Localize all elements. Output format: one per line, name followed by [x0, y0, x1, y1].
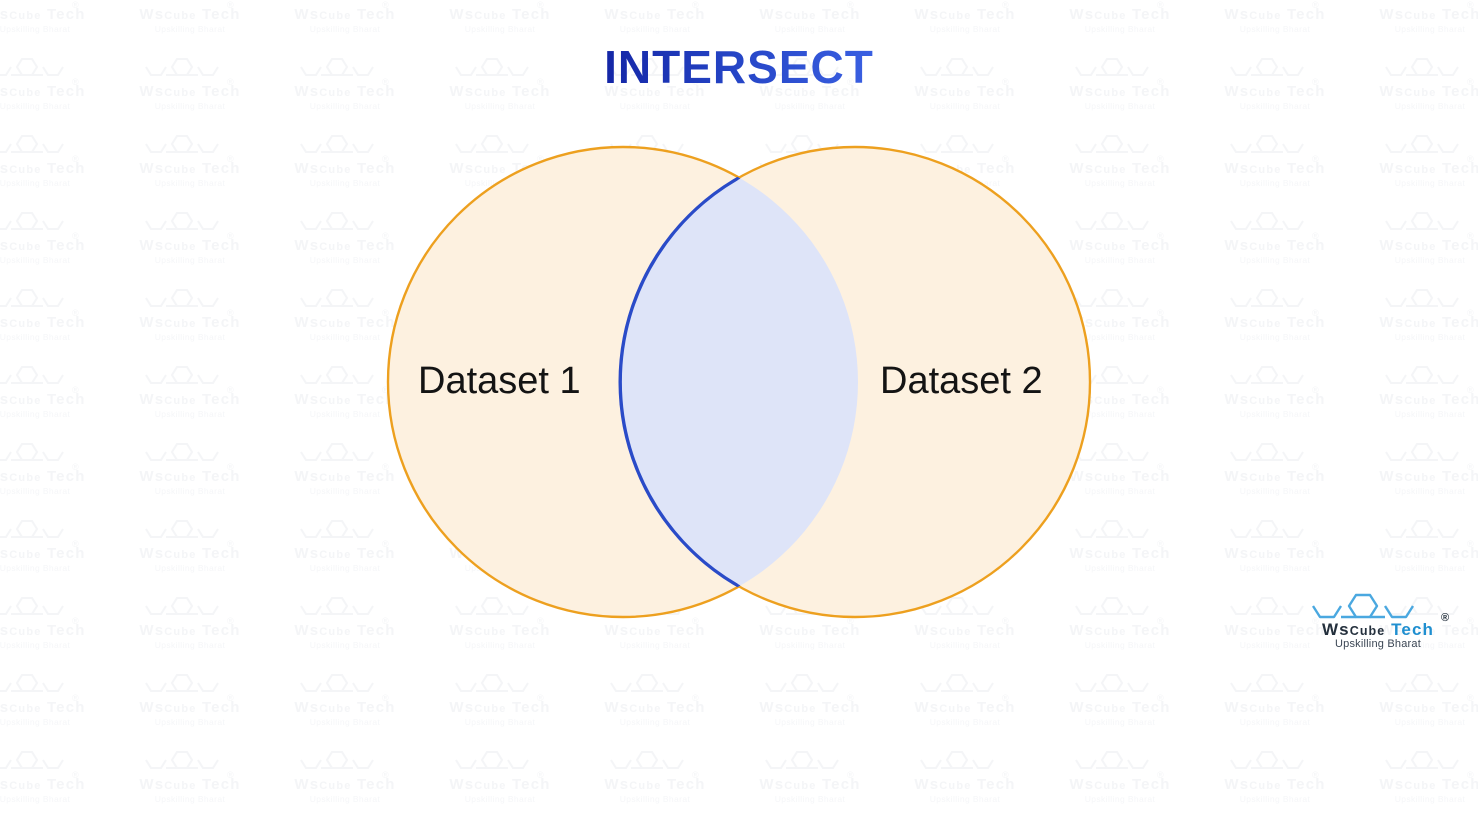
brand-word-ws: Ws [1322, 620, 1350, 639]
watermark-tile: WsCube Tech®Upskilling Bharat [890, 750, 1040, 820]
watermark-hexagon-icon [143, 750, 239, 779]
watermark-tagline: Upskilling Bharat [1355, 717, 1478, 727]
watermark-wordmark: WsCube Tech [890, 699, 1040, 716]
page-title: INTERSECT [0, 40, 1478, 94]
watermark-word-cube: Cube [9, 780, 41, 792]
watermark-word-ws: Ws [449, 699, 474, 716]
watermark-registered-mark-icon: ® [1312, 770, 1319, 780]
watermark-registered-mark-icon: ® [692, 693, 699, 703]
watermark-registered-mark-icon: ® [72, 770, 79, 780]
venn-label-dataset-2: Dataset 2 [880, 360, 1043, 403]
watermark-registered-mark-icon: ® [382, 770, 389, 780]
watermark-wordmark: WsCube Tech [425, 699, 575, 716]
watermark-word-cube: Cube [319, 780, 351, 792]
watermark-tagline: Upskilling Bharat [890, 717, 1040, 727]
watermark-word-tech: Tech [1442, 699, 1478, 716]
watermark-tile: WsCube Tech®Upskilling Bharat [425, 673, 575, 743]
watermark-word-tech: Tech [512, 699, 551, 716]
watermark-word-tech: Tech [1442, 776, 1478, 793]
watermark-word-ws: Ws [914, 776, 939, 793]
watermark-tile: WsCube Tech®Upskilling Bharat [1045, 673, 1195, 743]
watermark-tagline: Upskilling Bharat [735, 794, 885, 804]
watermark-wordmark: WsCube Tech [580, 776, 730, 793]
watermark-tile: WsCube Tech®Upskilling Bharat [0, 750, 110, 820]
watermark-word-tech: Tech [1287, 699, 1326, 716]
watermark-registered-mark-icon: ® [1312, 693, 1319, 703]
watermark-word-ws: Ws [604, 699, 629, 716]
watermark-tagline: Upskilling Bharat [890, 794, 1040, 804]
watermark-hexagon-icon [453, 750, 549, 779]
watermark-wordmark: WsCube Tech [0, 776, 110, 793]
watermark-word-cube: Cube [1249, 780, 1281, 792]
watermark-hexagon-icon [298, 673, 394, 702]
watermark-word-tech: Tech [977, 699, 1016, 716]
watermark-registered-mark-icon: ® [1467, 770, 1474, 780]
watermark-word-tech: Tech [47, 776, 86, 793]
watermark-tile: WsCube Tech®Upskilling Bharat [1200, 673, 1350, 743]
watermark-word-tech: Tech [977, 776, 1016, 793]
watermark-tagline: Upskilling Bharat [580, 717, 730, 727]
watermark-word-cube: Cube [1094, 703, 1126, 715]
watermark-word-cube: Cube [1249, 703, 1281, 715]
watermark-registered-mark-icon: ® [72, 693, 79, 703]
watermark-tagline: Upskilling Bharat [580, 794, 730, 804]
watermark-tile: WsCube Tech®Upskilling Bharat [270, 750, 420, 820]
brand-word-tech: Tech [1391, 620, 1434, 639]
watermark-tile: WsCube Tech®Upskilling Bharat [735, 673, 885, 743]
watermark-word-ws: Ws [759, 776, 784, 793]
watermark-hexagon-icon [763, 750, 859, 779]
watermark-word-ws: Ws [604, 776, 629, 793]
watermark-tagline: Upskilling Bharat [270, 794, 420, 804]
watermark-wordmark: WsCube Tech [1200, 699, 1350, 716]
watermark-tile: WsCube Tech®Upskilling Bharat [115, 750, 265, 820]
watermark-word-ws: Ws [1379, 776, 1404, 793]
watermark-tile: WsCube Tech®Upskilling Bharat [890, 673, 1040, 743]
watermark-word-cube: Cube [164, 780, 196, 792]
watermark-registered-mark-icon: ® [1467, 693, 1474, 703]
watermark-word-tech: Tech [1287, 776, 1326, 793]
watermark-word-tech: Tech [667, 776, 706, 793]
watermark-word-cube: Cube [939, 780, 971, 792]
watermark-word-cube: Cube [939, 703, 971, 715]
watermark-registered-mark-icon: ® [382, 693, 389, 703]
watermark-wordmark: WsCube Tech [1355, 776, 1478, 793]
brand-tagline: Upskilling Bharat [1298, 638, 1458, 650]
watermark-word-cube: Cube [784, 780, 816, 792]
watermark-tagline: Upskilling Bharat [1200, 794, 1350, 804]
watermark-tagline: Upskilling Bharat [1045, 794, 1195, 804]
venn-diagram-svg [0, 0, 1478, 677]
watermark-tile: WsCube Tech®Upskilling Bharat [425, 750, 575, 820]
watermark-word-tech: Tech [47, 699, 86, 716]
watermark-registered-mark-icon: ® [1157, 770, 1164, 780]
watermark-word-ws: Ws [1224, 699, 1249, 716]
watermark-wordmark: WsCube Tech [0, 699, 110, 716]
watermark-hexagon-icon [1073, 750, 1169, 779]
watermark-word-tech: Tech [357, 699, 396, 716]
watermark-word-ws: Ws [139, 776, 164, 793]
watermark-word-cube: Cube [474, 703, 506, 715]
watermark-wordmark: WsCube Tech [1045, 776, 1195, 793]
watermark-registered-mark-icon: ® [537, 693, 544, 703]
watermark-wordmark: WsCube Tech [890, 776, 1040, 793]
watermark-word-cube: Cube [629, 703, 661, 715]
watermark-tagline: Upskilling Bharat [270, 717, 420, 727]
watermark-tagline: Upskilling Bharat [1200, 717, 1350, 727]
brand-word-cube: Cube [1350, 624, 1386, 638]
watermark-registered-mark-icon: ® [227, 693, 234, 703]
watermark-word-cube: Cube [784, 703, 816, 715]
watermark-word-tech: Tech [1132, 699, 1171, 716]
watermark-registered-mark-icon: ® [847, 770, 854, 780]
watermark-wordmark: WsCube Tech [735, 776, 885, 793]
watermark-word-cube: Cube [319, 703, 351, 715]
watermark-wordmark: WsCube Tech [115, 776, 265, 793]
watermark-word-tech: Tech [512, 776, 551, 793]
watermark-word-cube: Cube [164, 703, 196, 715]
watermark-hexagon-icon [1383, 750, 1478, 779]
watermark-tagline: Upskilling Bharat [115, 794, 265, 804]
watermark-word-cube: Cube [1404, 703, 1436, 715]
brand-wordmark: WsCube Tech [1298, 620, 1458, 640]
watermark-word-ws: Ws [0, 699, 9, 716]
watermark-hexagon-icon [918, 750, 1014, 779]
watermark-word-ws: Ws [139, 699, 164, 716]
watermark-tile: WsCube Tech®Upskilling Bharat [580, 673, 730, 743]
watermark-hexagon-icon [918, 673, 1014, 702]
page-title-text: INTERSECT [604, 40, 874, 94]
watermark-word-tech: Tech [822, 699, 861, 716]
watermark-word-tech: Tech [202, 776, 241, 793]
watermark-word-ws: Ws [914, 699, 939, 716]
watermark-wordmark: WsCube Tech [580, 699, 730, 716]
watermark-wordmark: WsCube Tech [1200, 776, 1350, 793]
watermark-registered-mark-icon: ® [692, 770, 699, 780]
watermark-registered-mark-icon: ® [537, 770, 544, 780]
watermark-hexagon-icon [0, 673, 84, 702]
watermark-tile: WsCube Tech®Upskilling Bharat [115, 673, 265, 743]
watermark-tile: WsCube Tech®Upskilling Bharat [1355, 673, 1478, 743]
watermark-registered-mark-icon: ® [1157, 693, 1164, 703]
watermark-hexagon-icon [1073, 673, 1169, 702]
watermark-word-ws: Ws [1379, 699, 1404, 716]
watermark-word-ws: Ws [0, 776, 9, 793]
watermark-hexagon-icon [0, 750, 84, 779]
watermark-wordmark: WsCube Tech [425, 776, 575, 793]
registered-mark-icon: ® [1441, 612, 1449, 624]
watermark-tagline: Upskilling Bharat [1045, 717, 1195, 727]
venn-label-dataset-1: Dataset 1 [418, 360, 581, 403]
watermark-wordmark: WsCube Tech [735, 699, 885, 716]
watermark-hexagon-icon [608, 673, 704, 702]
watermark-tagline: Upskilling Bharat [1355, 794, 1478, 804]
watermark-registered-mark-icon: ® [1002, 693, 1009, 703]
watermark-registered-mark-icon: ® [1002, 770, 1009, 780]
watermark-registered-mark-icon: ® [847, 693, 854, 703]
watermark-word-ws: Ws [1069, 776, 1094, 793]
watermark-hexagon-icon [143, 673, 239, 702]
watermark-tagline: Upskilling Bharat [0, 717, 110, 727]
watermark-tile: WsCube Tech®Upskilling Bharat [1200, 750, 1350, 820]
watermark-wordmark: WsCube Tech [1355, 699, 1478, 716]
watermark-hexagon-icon [1383, 673, 1478, 702]
watermark-hexagon-icon [453, 673, 549, 702]
watermark-wordmark: WsCube Tech [270, 699, 420, 716]
watermark-word-cube: Cube [1404, 780, 1436, 792]
watermark-word-cube: Cube [1094, 780, 1126, 792]
watermark-hexagon-icon [608, 750, 704, 779]
watermark-tile: WsCube Tech®Upskilling Bharat [1045, 750, 1195, 820]
watermark-word-cube: Cube [629, 780, 661, 792]
watermark-word-ws: Ws [759, 699, 784, 716]
watermark-word-tech: Tech [357, 776, 396, 793]
watermark-tile: WsCube Tech®Upskilling Bharat [580, 750, 730, 820]
watermark-hexagon-icon [763, 673, 859, 702]
watermark-tagline: Upskilling Bharat [735, 717, 885, 727]
watermark-tagline: Upskilling Bharat [425, 717, 575, 727]
watermark-word-tech: Tech [667, 699, 706, 716]
watermark-tile: WsCube Tech®Upskilling Bharat [0, 673, 110, 743]
watermark-word-cube: Cube [474, 780, 506, 792]
watermark-hexagon-icon [298, 750, 394, 779]
watermark-hexagon-icon [1228, 673, 1324, 702]
watermark-wordmark: WsCube Tech [115, 699, 265, 716]
watermark-word-tech: Tech [202, 699, 241, 716]
watermark-tile: WsCube Tech®Upskilling Bharat [270, 673, 420, 743]
watermark-word-ws: Ws [294, 776, 319, 793]
watermark-tile: WsCube Tech®Upskilling Bharat [735, 750, 885, 820]
watermark-word-ws: Ws [294, 699, 319, 716]
watermark-word-tech: Tech [1132, 776, 1171, 793]
brand-logo: WsCube Tech ® Upskilling Bharat [1298, 592, 1466, 654]
watermark-hexagon-icon [1228, 750, 1324, 779]
watermark-tagline: Upskilling Bharat [0, 794, 110, 804]
watermark-word-tech: Tech [822, 776, 861, 793]
watermark-registered-mark-icon: ® [227, 770, 234, 780]
watermark-word-cube: Cube [9, 703, 41, 715]
venn-diagram [0, 0, 1478, 677]
watermark-tile: WsCube Tech®Upskilling Bharat [1355, 750, 1478, 820]
watermark-word-ws: Ws [1224, 776, 1249, 793]
watermark-wordmark: WsCube Tech [270, 776, 420, 793]
watermark-word-ws: Ws [449, 776, 474, 793]
watermark-tagline: Upskilling Bharat [425, 794, 575, 804]
watermark-tagline: Upskilling Bharat [115, 717, 265, 727]
watermark-word-ws: Ws [1069, 699, 1094, 716]
watermark-wordmark: WsCube Tech [1045, 699, 1195, 716]
